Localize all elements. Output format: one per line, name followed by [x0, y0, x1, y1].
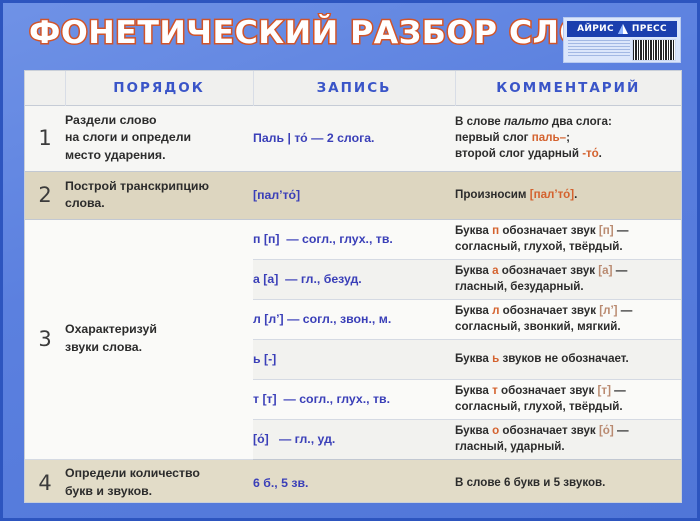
order-line: букв и звуков.	[65, 483, 253, 500]
comment-line: второй слог ударный -то́.	[455, 146, 681, 162]
analysis-table-wrapper: ПОРЯДОК ЗАПИСЬ КОММЕНТАРИЙ 1 Раздели сло…	[25, 71, 681, 502]
record-cell: а [а] — гл., безуд.	[253, 259, 455, 299]
comment-line: Произносим [пал’то́].	[455, 187, 681, 203]
header-zapis: ЗАПИСЬ	[253, 71, 455, 105]
table-row: 1 Раздели слово на слоги и определи мест…	[25, 105, 681, 171]
row-number: 2	[25, 171, 65, 219]
comment-cell: Буква а обозначает звук [а] — гласный, б…	[455, 259, 681, 299]
comment-text: Произносим	[455, 188, 530, 201]
comment-line: Буква л обозначает звук [л’] —	[455, 303, 681, 319]
comment-text: —	[614, 424, 629, 437]
order-line: Построй транскрипцию	[65, 178, 253, 195]
logo-text-lines	[568, 40, 630, 58]
record-cell: п [п] — согл., глух., тв.	[253, 219, 455, 259]
comment-line: Буква ь звуков не обозначает.	[455, 351, 681, 367]
logo-word-right: ПРЕСС	[632, 24, 667, 34]
record-letter: л [л’]	[253, 312, 284, 326]
comment-cell: Произносим [пал’то́].	[455, 171, 681, 219]
comment-text: два слога:	[549, 115, 612, 128]
comment-line: согласный, звонкий, мягкий.	[455, 319, 681, 335]
record-traits: — согл., глух., тв.	[284, 392, 390, 406]
comment-cell: Буква т обозначает звук [т] — согласный,…	[455, 379, 681, 419]
comment-line: Буква о обозначает звук [о́] —	[455, 423, 681, 439]
record-traits: — согл., глух., тв.	[286, 232, 392, 246]
comment-text: звуков не обозначает.	[499, 352, 628, 365]
comment-text: обозначает звук	[499, 304, 599, 317]
comment-bracket: [т]	[598, 384, 611, 397]
comment-text: —	[614, 224, 629, 237]
comment-text: .	[574, 188, 577, 201]
comment-cell: Буква о обозначает звук [о́] — гласный, …	[455, 419, 681, 459]
comment-text: В слове	[455, 115, 504, 128]
comment-text: Буква	[455, 224, 492, 237]
comment-line: Буква а обозначает звук [а] —	[455, 263, 681, 279]
table-row: 4 Определи количество букв и звуков. 6 б…	[25, 459, 681, 502]
order-line: слова.	[65, 195, 253, 212]
record-letter: ь [-]	[253, 352, 276, 366]
poster-root: ФОНЕТИЧЕСКИЙ РАЗБОР СЛОВА АЙРИС ПРЕСС	[0, 0, 700, 521]
record-letter: [о́]	[253, 432, 269, 446]
comment-text: Буква	[455, 304, 492, 317]
order-cell: Охарактеризуй звуки слова.	[65, 219, 253, 459]
publisher-logo: АЙРИС ПРЕСС	[563, 17, 681, 63]
row-number: 4	[25, 459, 65, 502]
record-cell: 6 б., 5 зв.	[253, 459, 455, 502]
comment-text: —	[611, 384, 626, 397]
comment-cell: В слове пальто два слога: первый слог па…	[455, 105, 681, 171]
order-cell: Раздели слово на слоги и определи место …	[65, 105, 253, 171]
order-line: Раздели слово	[65, 112, 253, 129]
record-cell: л [л’] — согл., звон., м.	[253, 299, 455, 339]
record-traits: — гл., безуд.	[285, 272, 362, 286]
comment-text: —	[612, 264, 627, 277]
comment-text: обозначает звук	[499, 424, 599, 437]
order-line: Охарактеризуй	[65, 321, 253, 339]
comment-text: второй слог ударный	[455, 147, 582, 160]
comment-accent: -то́	[582, 147, 598, 160]
comment-line: согласный, глухой, твёрдый.	[455, 239, 681, 255]
comment-text: Буква	[455, 264, 492, 277]
comment-text: —	[618, 304, 633, 317]
record-cell: [о́] — гл., уд.	[253, 419, 455, 459]
comment-text: ;	[566, 131, 570, 144]
order-line: место ударения.	[65, 147, 253, 164]
record-cell: т [т] — согл., глух., тв.	[253, 379, 455, 419]
row-number: 1	[25, 105, 65, 171]
record-traits: — согл., звон., м.	[287, 312, 391, 326]
comment-accent: [пал’то́]	[530, 188, 574, 201]
record-cell: ь [-]	[253, 339, 455, 379]
comment-cell: Буква л обозначает звук [л’] — согласный…	[455, 299, 681, 339]
comment-accent: паль–	[532, 131, 566, 144]
record-traits: — гл., уд.	[279, 432, 335, 446]
table-row: 3 Охарактеризуй звуки слова. п [п] — сог…	[25, 219, 681, 259]
analysis-table: ПОРЯДОК ЗАПИСЬ КОММЕНТАРИЙ 1 Раздели сло…	[25, 71, 681, 502]
comment-line: гласный, ударный.	[455, 439, 681, 455]
comment-text: обозначает звук	[499, 224, 599, 237]
order-line: Определи количество	[65, 465, 253, 482]
comment-text: обозначает звук	[498, 384, 598, 397]
comment-line: первый слог паль–;	[455, 130, 681, 146]
row-number: 3	[25, 219, 65, 459]
comment-cell: В слове 6 букв и 5 звуков.	[455, 459, 681, 502]
comment-text: .	[599, 147, 602, 160]
comment-bracket: [л’]	[599, 304, 617, 317]
comment-line: гласный, безударный.	[455, 279, 681, 295]
comment-text: Буква	[455, 384, 492, 397]
comment-line: В слове пальто два слога:	[455, 114, 681, 130]
comment-text: обозначает звук	[499, 264, 599, 277]
comment-italic-word: пальто	[504, 115, 549, 128]
comment-bracket: [а]	[598, 264, 612, 277]
header-poryadok: ПОРЯДОК	[65, 71, 253, 105]
header-spacer	[25, 71, 65, 105]
order-line: звуки слова.	[65, 339, 253, 357]
table-row: 2 Построй транскрипцию слова. [пал’то́] …	[25, 171, 681, 219]
comment-text: Буква	[455, 352, 492, 365]
logo-band: АЙРИС ПРЕСС	[567, 21, 677, 37]
logo-word-left: АЙРИС	[577, 24, 614, 34]
comment-line: В слове 6 букв и 5 звуков.	[455, 475, 681, 491]
barcode	[632, 39, 676, 61]
pyramid-icon	[617, 24, 629, 35]
comment-line: Буква п обозначает звук [п] —	[455, 223, 681, 239]
page-title: ФОНЕТИЧЕСКИЙ РАЗБОР СЛОВА	[29, 15, 636, 51]
comment-line: согласный, глухой, твёрдый.	[455, 399, 681, 415]
comment-text: Буква	[455, 424, 492, 437]
table-header-row: ПОРЯДОК ЗАПИСЬ КОММЕНТАРИЙ	[25, 71, 681, 105]
comment-cell: Буква п обозначает звук [п] — согласный,…	[455, 219, 681, 259]
order-cell: Построй транскрипцию слова.	[65, 171, 253, 219]
comment-bracket: [п]	[599, 224, 614, 237]
record-letter: п [п]	[253, 232, 279, 246]
order-cell: Определи количество букв и звуков.	[65, 459, 253, 502]
comment-text: первый слог	[455, 131, 532, 144]
record-letter: а [а]	[253, 272, 278, 286]
record-cell: [пал’то́]	[253, 171, 455, 219]
title-bar: ФОНЕТИЧЕСКИЙ РАЗБОР СЛОВА АЙРИС ПРЕСС	[3, 3, 700, 71]
record-letter: т [т]	[253, 392, 277, 406]
comment-line: Буква т обозначает звук [т] —	[455, 383, 681, 399]
order-line: на слоги и определи	[65, 129, 253, 146]
comment-cell: Буква ь звуков не обозначает.	[455, 339, 681, 379]
record-cell: Паль | то́ — 2 слога.	[253, 105, 455, 171]
header-kommentariy: КОММЕНТАРИЙ	[455, 71, 681, 105]
comment-bracket: [о́]	[599, 424, 614, 437]
